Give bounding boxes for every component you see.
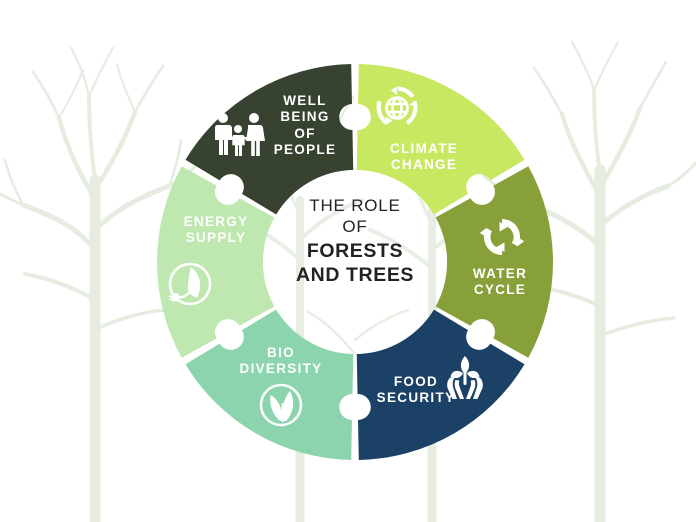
forests-role-puzzle-wheel [0, 0, 696, 522]
infographic-canvas: WELL BEING OF PEOPLE CLIMATE CHANGE WATE… [0, 0, 696, 522]
